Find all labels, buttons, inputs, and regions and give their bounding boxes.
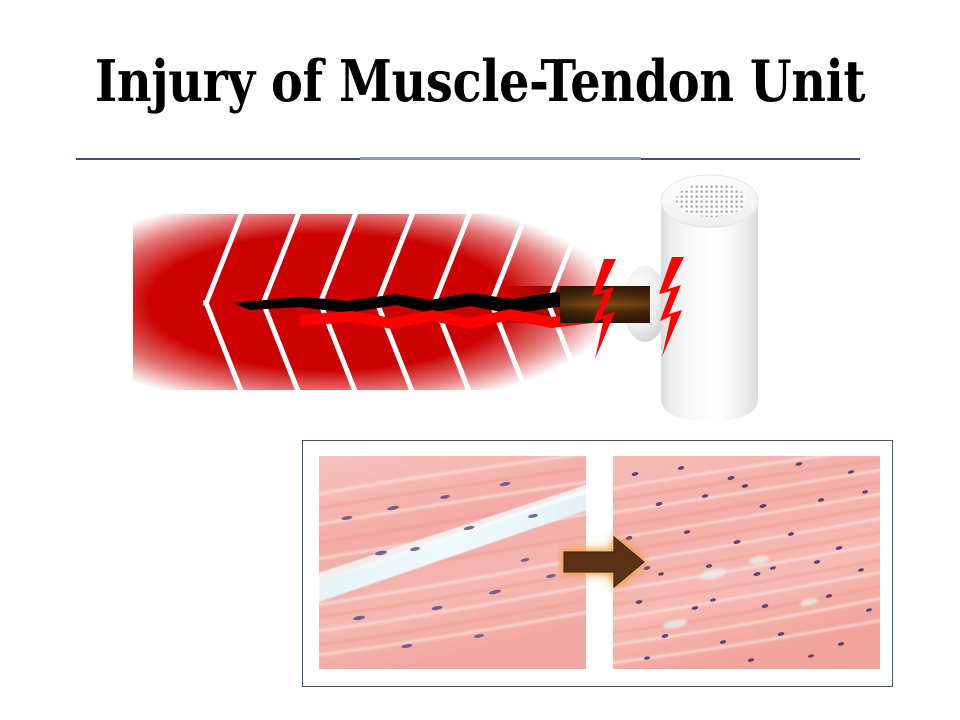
histology-comparison-panel [302, 440, 893, 687]
enthesis-knob [623, 266, 667, 342]
divider-segment-center [360, 157, 641, 160]
bone [661, 175, 758, 421]
trabecular-bone-texture [676, 183, 746, 217]
divider-segment-right [641, 158, 860, 160]
muscle-striations [205, 210, 585, 396]
progression-arrow [558, 527, 650, 597]
injury-bolt-tendon-bone-insertion [659, 257, 684, 357]
title-divider [76, 157, 860, 160]
tendon-foreground [560, 286, 650, 323]
histology-normal-muscle [319, 456, 586, 669]
divider-segment-left [76, 158, 360, 160]
page-title: Injury of Muscle-Tendon Unit [77, 46, 883, 118]
tendon [498, 286, 650, 323]
slide-canvas: Injury of Muscle-Tendon Unit [0, 0, 960, 720]
histology-healing-muscle [613, 456, 880, 669]
muscle-belly [133, 210, 600, 396]
title-block: Injury of Muscle-Tendon Unit [0, 46, 960, 118]
injury-bolt-musculotendinous-junction [592, 259, 616, 359]
muscle-tear [234, 292, 600, 329]
